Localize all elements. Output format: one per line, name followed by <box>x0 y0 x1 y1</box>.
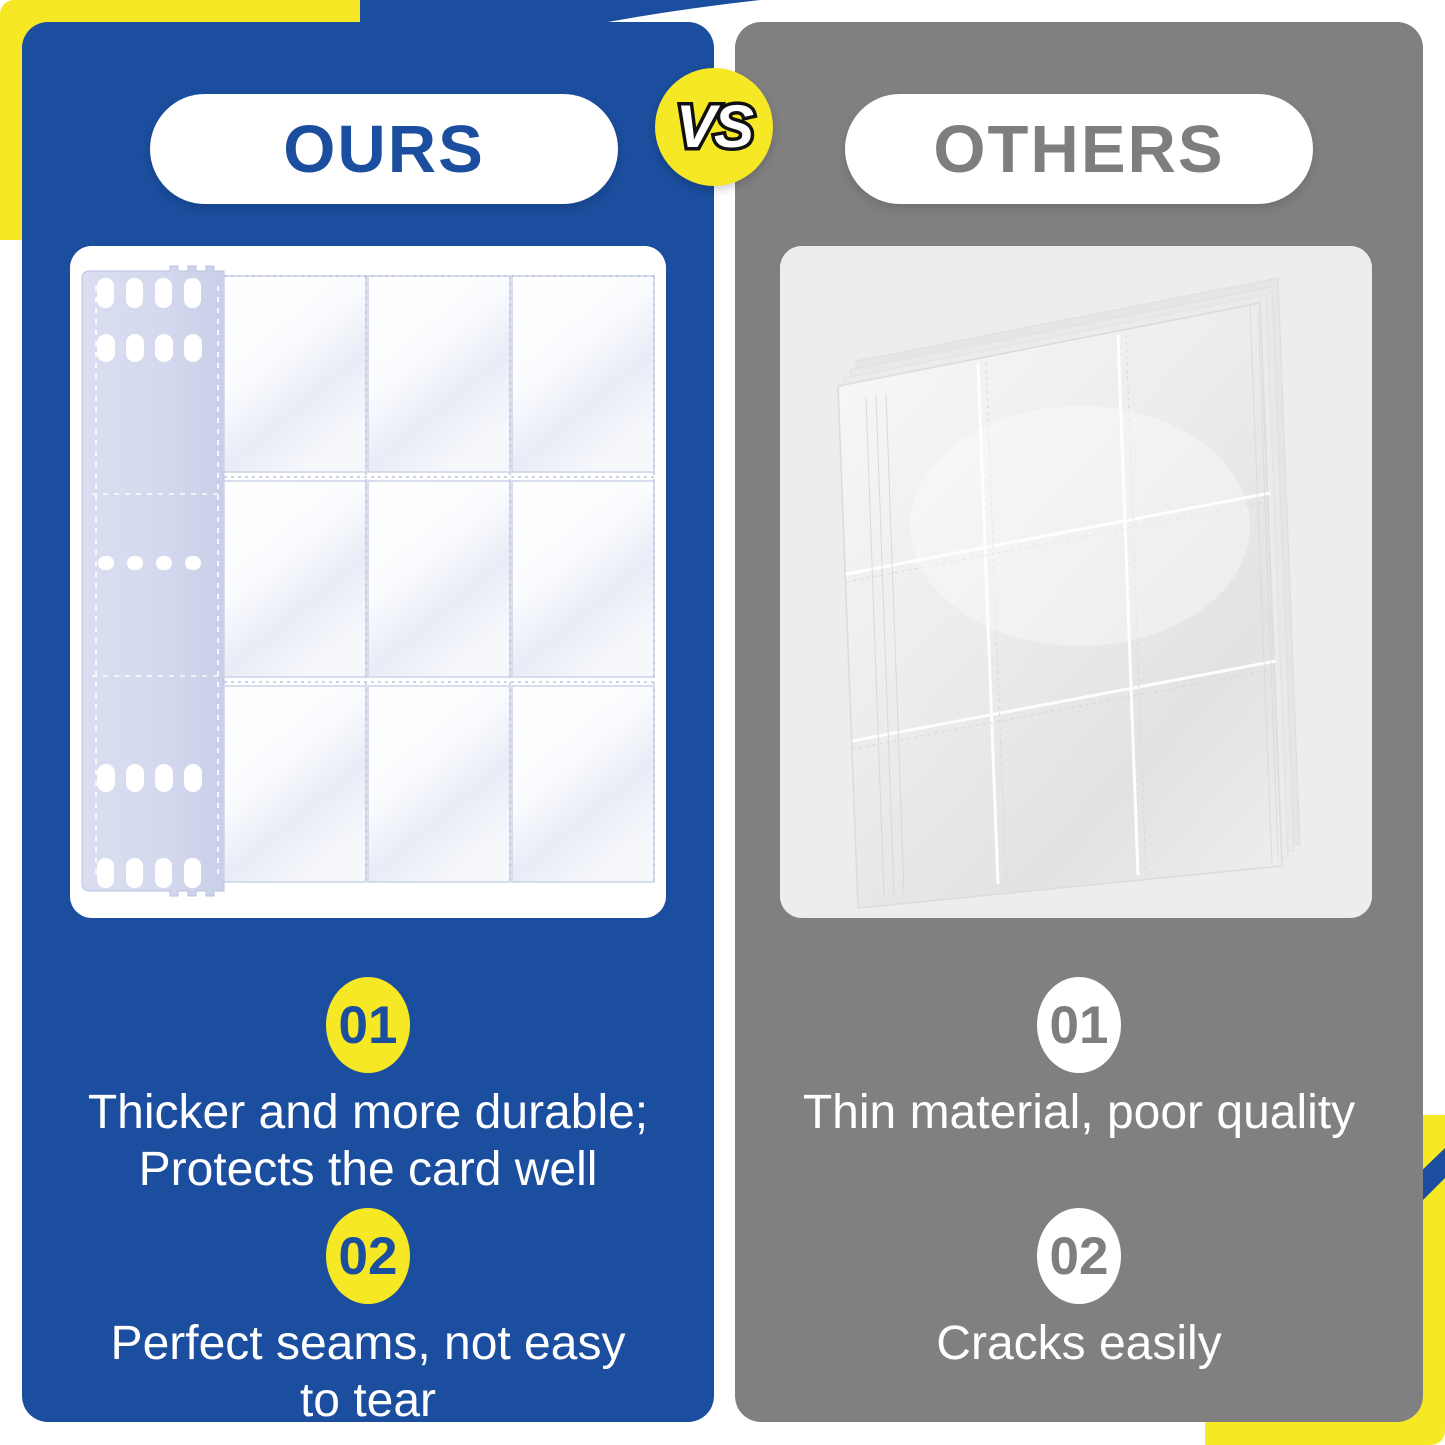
ours-heading-pill: OURS <box>150 94 618 204</box>
ours-heading-label: OURS <box>283 116 485 183</box>
others-feature-1-number: 01 <box>1037 977 1121 1073</box>
others-product-image <box>780 246 1372 918</box>
ours-feature-1-text: Thicker and more durable; Protects the c… <box>22 1085 714 1198</box>
ours-feature-2-text: Perfect seams, not easy to tear <box>22 1316 714 1429</box>
ours-feature-1-number: 01 <box>326 977 410 1073</box>
ours-feature-2: 02 Perfect seams, not easy to tear <box>22 1208 714 1429</box>
others-feature-2-text: Cracks easily <box>735 1316 1423 1373</box>
comparison-infographic: OURS <box>0 0 1445 1445</box>
others-feature-1: 01 Thin material, poor quality <box>735 977 1423 1142</box>
ours-feature-1: 01 Thicker and more durable; Protects th… <box>22 977 714 1198</box>
others-feature-1-text: Thin material, poor quality <box>735 1085 1423 1142</box>
vs-badge: VS <box>655 68 773 186</box>
others-feature-2: 02 Cracks easily <box>735 1208 1423 1373</box>
ours-panel: OURS <box>22 22 714 1422</box>
others-panel: OTHERS <box>735 22 1423 1422</box>
vs-badge-label: VS <box>676 97 752 157</box>
others-heading-label: OTHERS <box>933 116 1224 183</box>
ours-feature-2-number: 02 <box>326 1208 410 1304</box>
others-heading-pill: OTHERS <box>845 94 1313 204</box>
ours-product-image <box>70 246 666 918</box>
others-feature-2-number: 02 <box>1037 1208 1121 1304</box>
